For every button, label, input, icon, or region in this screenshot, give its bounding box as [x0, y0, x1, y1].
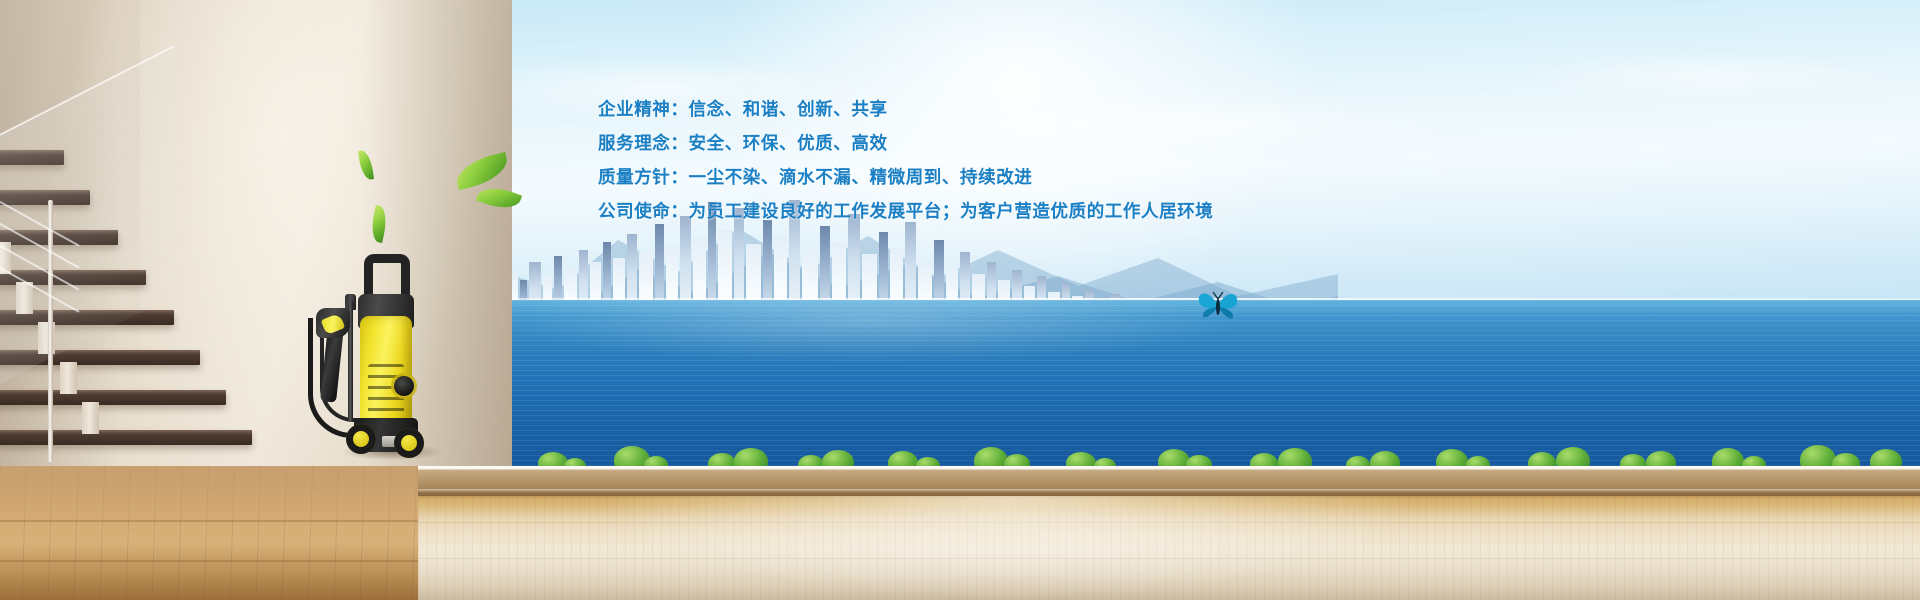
mission-text-block: 企业精神：信念、和谐、创新、共享 服务理念：安全、环保、优质、高效 质量方针：一…: [598, 92, 1358, 228]
mission-line-spirit: 企业精神：信念、和谐、创新、共享: [598, 92, 1358, 126]
washer-reel-hub: [394, 376, 414, 396]
staircase: [0, 150, 244, 510]
washer-wheel-right: [394, 428, 424, 458]
baseboard-highlight: [418, 489, 1920, 493]
washer-spray-gun: [314, 308, 348, 400]
pressure-washer: [308, 258, 426, 458]
banner-stage: 企业精神：信念、和谐、创新、共享 服务理念：安全、环保、优质、高效 质量方针：一…: [0, 0, 1920, 600]
mission-line-service: 服务理念：安全、环保、优质、高效: [598, 126, 1358, 160]
wood-floor: [418, 496, 1920, 600]
mission-line-quality: 质量方针：一尘不染、滴水不漏、精微周到、持续改进: [598, 160, 1358, 194]
washer-wheel-left: [346, 424, 376, 454]
mission-line-company: 公司使命：为员工建设良好的工作发展平台；为客户营造优质的工作人居环境: [598, 194, 1358, 228]
railing-post: [48, 200, 53, 462]
floor-sheen: [598, 496, 1418, 600]
shoreline-treeline: [418, 412, 1920, 474]
butterfly-icon: [1195, 285, 1241, 329]
baseboard: [418, 466, 1920, 498]
